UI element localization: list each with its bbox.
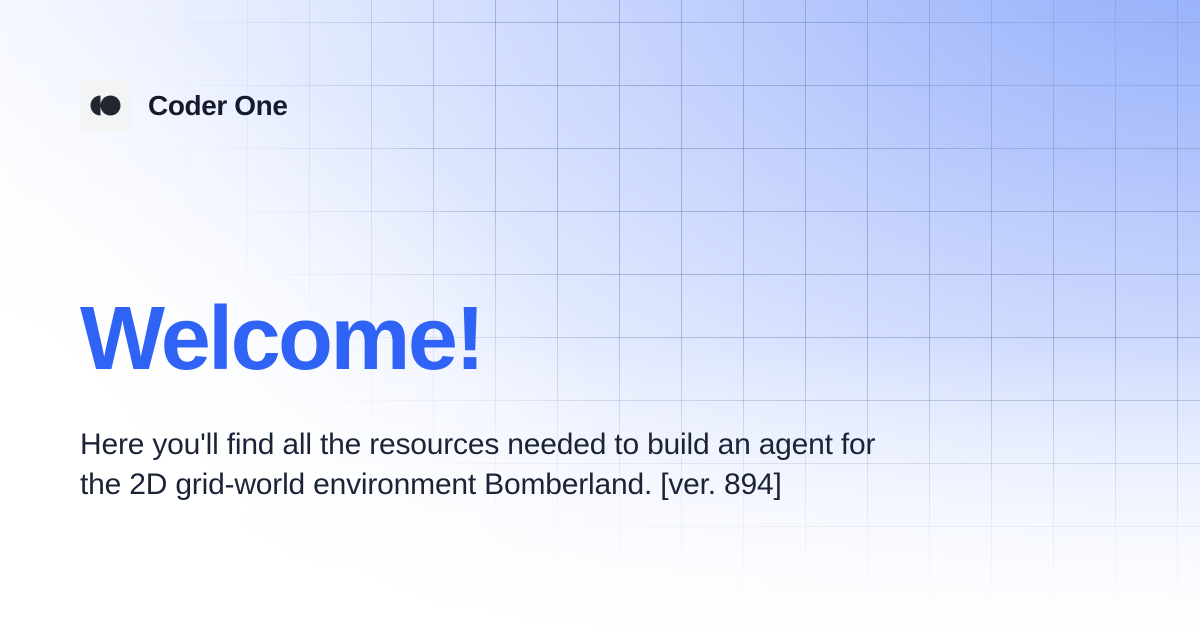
coder-one-logo-icon [80,80,131,131]
brand-lockup: Coder One [80,80,288,131]
page-description: Here you'll find all the resources neede… [80,425,880,505]
page-title: Welcome! [80,294,483,384]
welcome-card: Coder One Welcome! Here you'll find all … [0,0,1200,630]
brand-name-label: Coder One [148,92,288,120]
card-content: Coder One Welcome! Here you'll find all … [0,0,1200,630]
